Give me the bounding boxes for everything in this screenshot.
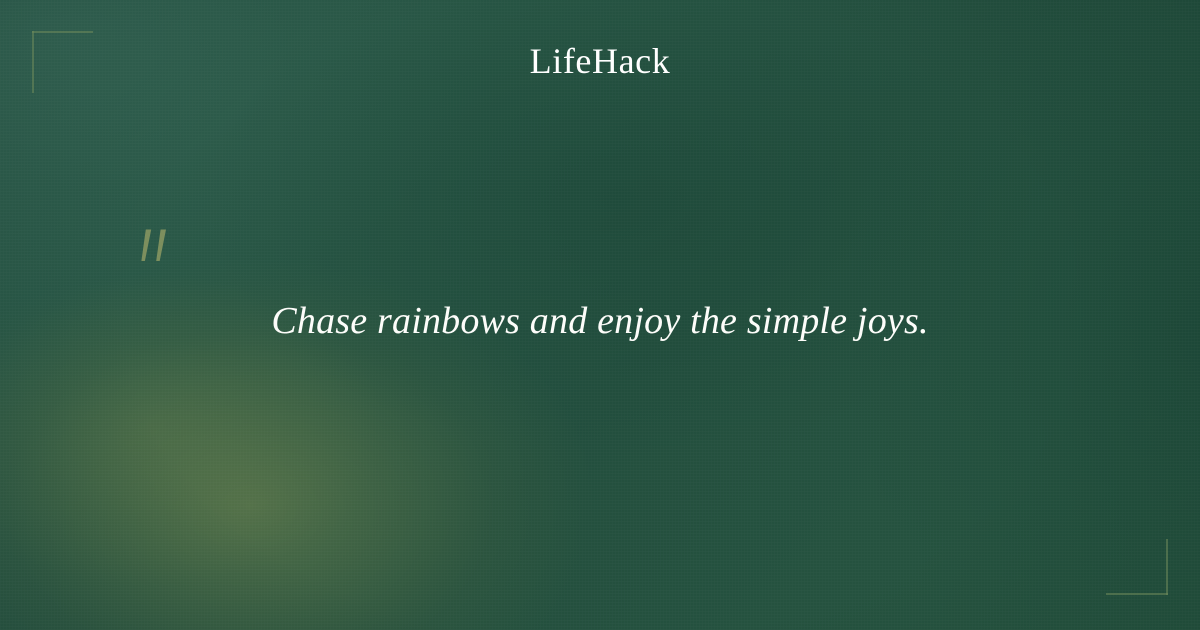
quote-text: Chase rainbows and enjoy the simple joys… (100, 296, 1100, 346)
corner-bracket-bottom-right-horizontal-bar (1106, 593, 1168, 595)
quote-card: LifeHack Chase rainbows and enjoy the si… (0, 0, 1200, 630)
corner-bracket-top-left-horizontal-bar (32, 31, 93, 33)
brand-logo-lifehack: LifeHack (0, 39, 1200, 83)
corner-bracket-bottom-right-vertical-bar (1166, 539, 1168, 595)
quotation-mark-icon (133, 229, 177, 267)
corner-bracket-bottom-right (1106, 539, 1168, 595)
